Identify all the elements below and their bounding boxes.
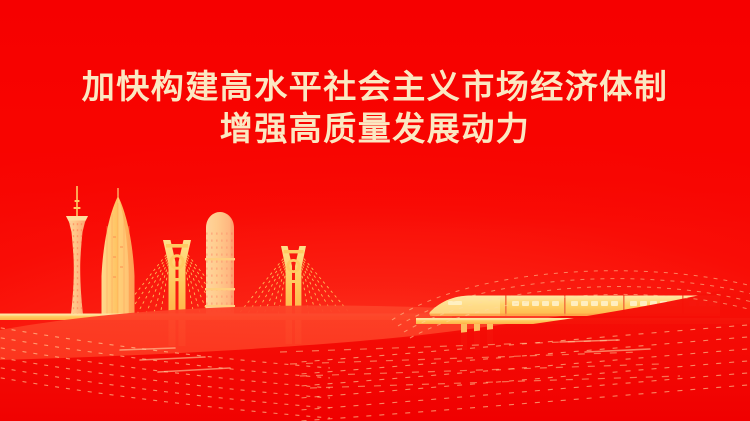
poster-canvas: 加快构建高水平社会主义市场经济体制 增强高质量发展动力 [0, 0, 750, 421]
canton-tower [66, 186, 88, 318]
title-line-2: 增强高质量发展动力 [0, 108, 750, 150]
bridge-pylon-left [163, 240, 191, 318]
skyline-illustration [0, 0, 750, 421]
spire-skyscraper [102, 188, 135, 318]
title-line-1: 加快构建高水平社会主义市场经济体制 [0, 66, 750, 108]
poster-title: 加快构建高水平社会主义市场经济体制 增强高质量发展动力 [0, 66, 750, 150]
rounded-tower [205, 212, 235, 318]
